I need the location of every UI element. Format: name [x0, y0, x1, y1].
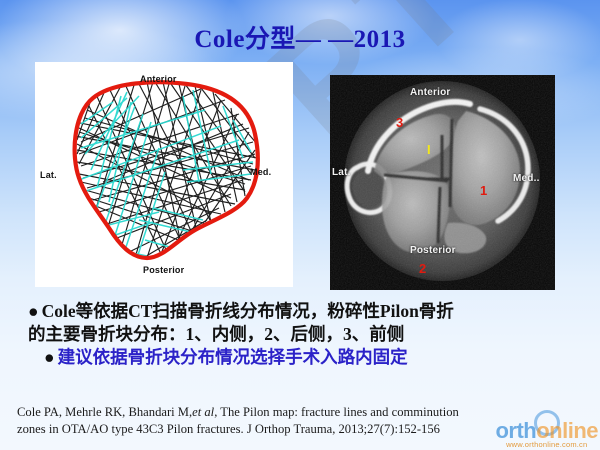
- ct-marker-3: 3: [396, 115, 403, 130]
- figure-pilon-map: Anterior Posterior Lat. Med.: [35, 62, 293, 287]
- ct-marker-1: 1: [480, 183, 487, 198]
- map-label-lateral: Lat.: [40, 170, 57, 180]
- ct-label-posterior: Posterior: [410, 245, 456, 256]
- map-label-anterior: Anterior: [140, 74, 177, 84]
- bullet-line-2-text: 的主要骨折块分布：1、内侧，2、后侧，3、前侧: [28, 324, 404, 344]
- bullet-line-1-text: Cole等依据CT扫描骨折线分布情况，粉碎性Pilon骨折: [42, 301, 454, 321]
- page-title: Cole分型— —2013: [0, 19, 600, 55]
- ct-label-lateral: Lat.: [332, 167, 351, 178]
- citation-reference: Cole PA, Mehrle RK, Bhandari M,et al, Th…: [17, 404, 577, 438]
- bullet-marker-2: ●: [44, 347, 55, 367]
- bullet-line-3: ●建议依据骨折块分布情况选择手术入路内固定: [28, 346, 573, 369]
- bullet-line-1: ●Cole等依据CT扫描骨折线分布情况，粉碎性Pilon骨折: [28, 300, 573, 323]
- citation-title-part: , The Pilon map: fracture lines and comm…: [214, 405, 459, 419]
- citation-journal: zones in OTA/AO type 43C3 Pilon fracture…: [17, 422, 440, 436]
- map-label-posterior: Posterior: [143, 265, 184, 275]
- citation-etal: et al: [192, 405, 214, 419]
- bullet-list: ●Cole等依据CT扫描骨折线分布情况，粉碎性Pilon骨折 的主要骨折块分布：…: [28, 300, 573, 369]
- ct-label-medial: Med..: [513, 173, 540, 184]
- ct-label-anterior: Anterior: [410, 87, 451, 98]
- bullet-line-2: 的主要骨折块分布：1、内侧，2、后侧，3、前侧: [28, 323, 573, 346]
- bullet-line-3-text: 建议依据骨折块分布情况选择手术入路内固定: [58, 347, 408, 367]
- ct-marker-2: 2: [419, 261, 426, 276]
- slide-canvas: PPT Cole分型— —2013: [0, 0, 600, 450]
- watermark-url: www.orthonline.com.cn: [495, 440, 598, 449]
- map-label-medial: Med.: [250, 167, 271, 177]
- ct-marker-center: I: [427, 142, 431, 157]
- figure-ct-axial: Anterior Posterior Lat. Med.. 1 2 3 I: [330, 75, 555, 290]
- bullet-marker: ●: [28, 301, 39, 321]
- citation-authors: Cole PA, Mehrle RK, Bhandari M,: [17, 405, 192, 419]
